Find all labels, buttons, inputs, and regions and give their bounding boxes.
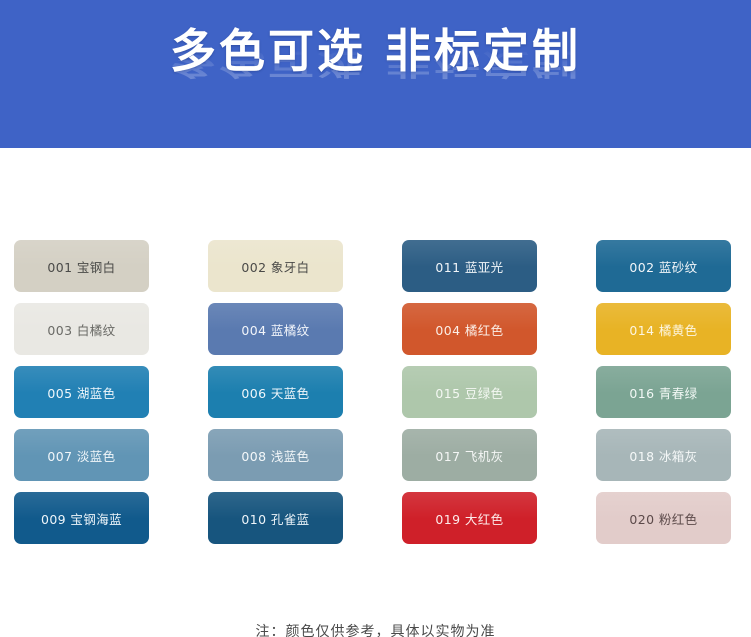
color-swatch[interactable]: 019 大红色	[402, 492, 537, 544]
color-swatch-label: 004 蓝橘纹	[241, 320, 309, 339]
color-swatch[interactable]: 004 橘红色	[402, 303, 537, 355]
color-swatch-label: 002 象牙白	[241, 257, 309, 276]
color-swatch[interactable]: 010 孔雀蓝	[208, 492, 343, 544]
color-swatch-label: 015 豆绿色	[435, 383, 503, 402]
color-swatch[interactable]: 004 蓝橘纹	[208, 303, 343, 355]
color-swatch[interactable]: 018 冰箱灰	[596, 429, 731, 481]
color-swatch-label: 019 大红色	[435, 509, 503, 528]
color-swatch-label: 016 青春绿	[629, 383, 697, 402]
header-banner: 多色可选 非标定制 多色可选 非标定制	[0, 0, 751, 148]
page-title-reflection: 多色可选 非标定制	[0, 48, 751, 80]
color-swatch-label: 002 蓝砂纹	[629, 257, 697, 276]
color-swatch-label: 003 白橘纹	[47, 320, 115, 339]
color-swatch-label: 014 橘黄色	[629, 320, 697, 339]
color-swatch[interactable]: 009 宝钢海蓝	[14, 492, 149, 544]
color-swatch[interactable]: 014 橘黄色	[596, 303, 731, 355]
color-swatch-label: 008 浅蓝色	[241, 446, 309, 465]
color-swatch-section: 001 宝钢白002 象牙白011 蓝亚光002 蓝砂纹003 白橘纹004 蓝…	[0, 148, 751, 637]
color-swatch-label: 005 湖蓝色	[47, 383, 115, 402]
color-swatch[interactable]: 011 蓝亚光	[402, 240, 537, 292]
color-swatch[interactable]: 006 天蓝色	[208, 366, 343, 418]
color-swatch[interactable]: 008 浅蓝色	[208, 429, 343, 481]
color-swatch-label: 020 粉红色	[629, 509, 697, 528]
color-swatch[interactable]: 003 白橘纹	[14, 303, 149, 355]
color-swatch-label: 004 橘红色	[435, 320, 503, 339]
color-swatch[interactable]: 002 蓝砂纹	[596, 240, 731, 292]
color-swatch-label: 007 淡蓝色	[47, 446, 115, 465]
banner-text-group: 多色可选 非标定制 多色可选 非标定制	[0, 26, 751, 131]
color-swatch[interactable]: 017 飞机灰	[402, 429, 537, 481]
color-swatch-label: 010 孔雀蓝	[241, 509, 309, 528]
footnote-text: 注：颜色仅供参考，具体以实物为准	[0, 621, 751, 637]
color-swatch[interactable]: 002 象牙白	[208, 240, 343, 292]
color-swatch[interactable]: 020 粉红色	[596, 492, 731, 544]
color-swatch-label: 001 宝钢白	[47, 257, 115, 276]
color-swatch-label: 018 冰箱灰	[629, 446, 697, 465]
color-swatch-label: 009 宝钢海蓝	[41, 509, 122, 528]
color-swatch[interactable]: 015 豆绿色	[402, 366, 537, 418]
color-swatch[interactable]: 005 湖蓝色	[14, 366, 149, 418]
color-swatch[interactable]: 001 宝钢白	[14, 240, 149, 292]
color-swatch[interactable]: 016 青春绿	[596, 366, 731, 418]
color-swatch-label: 011 蓝亚光	[435, 257, 503, 276]
color-swatch[interactable]: 007 淡蓝色	[14, 429, 149, 481]
color-options-page: 多色可选 非标定制 多色可选 非标定制 001 宝钢白002 象牙白011 蓝亚…	[0, 0, 751, 637]
color-swatch-label: 017 飞机灰	[435, 446, 503, 465]
color-swatch-grid: 001 宝钢白002 象牙白011 蓝亚光002 蓝砂纹003 白橘纹004 蓝…	[14, 240, 737, 544]
color-swatch-label: 006 天蓝色	[241, 383, 309, 402]
